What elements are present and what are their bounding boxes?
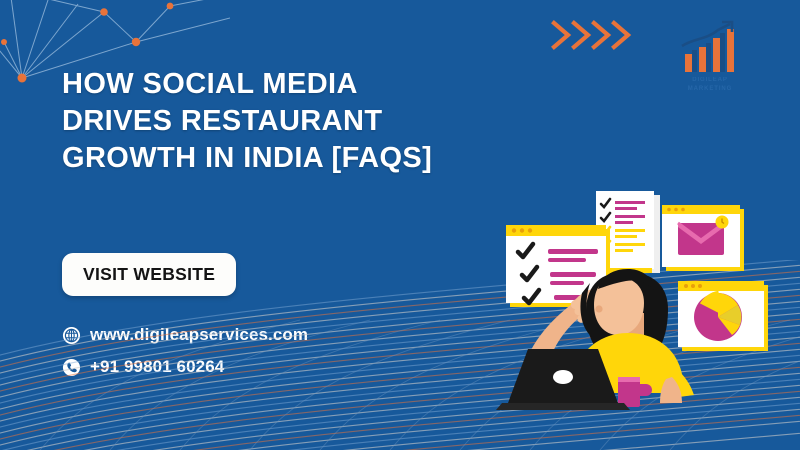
email-browser-card <box>662 205 744 271</box>
social-media-banner: DIGILEAP MARKETING HOW SOCIAL MEDIA DRIV… <box>0 0 800 450</box>
bar-chart-growth-icon <box>668 20 752 76</box>
woman-with-laptop-and-dashboard-cards <box>470 165 800 410</box>
brand-logo[interactable]: DIGILEAP MARKETING <box>668 20 752 108</box>
page-title: HOW SOCIAL MEDIA DRIVES RESTAURANT GROWT… <box>62 66 462 177</box>
pie-chart-browser-card <box>678 281 768 351</box>
logo-line-2: MARKETING <box>668 85 752 94</box>
chevron-arrows-right-icon <box>548 16 648 56</box>
logo-wordmark: DIGILEAP MARKETING <box>668 76 752 94</box>
logo-line-1: DIGILEAP <box>668 76 752 85</box>
